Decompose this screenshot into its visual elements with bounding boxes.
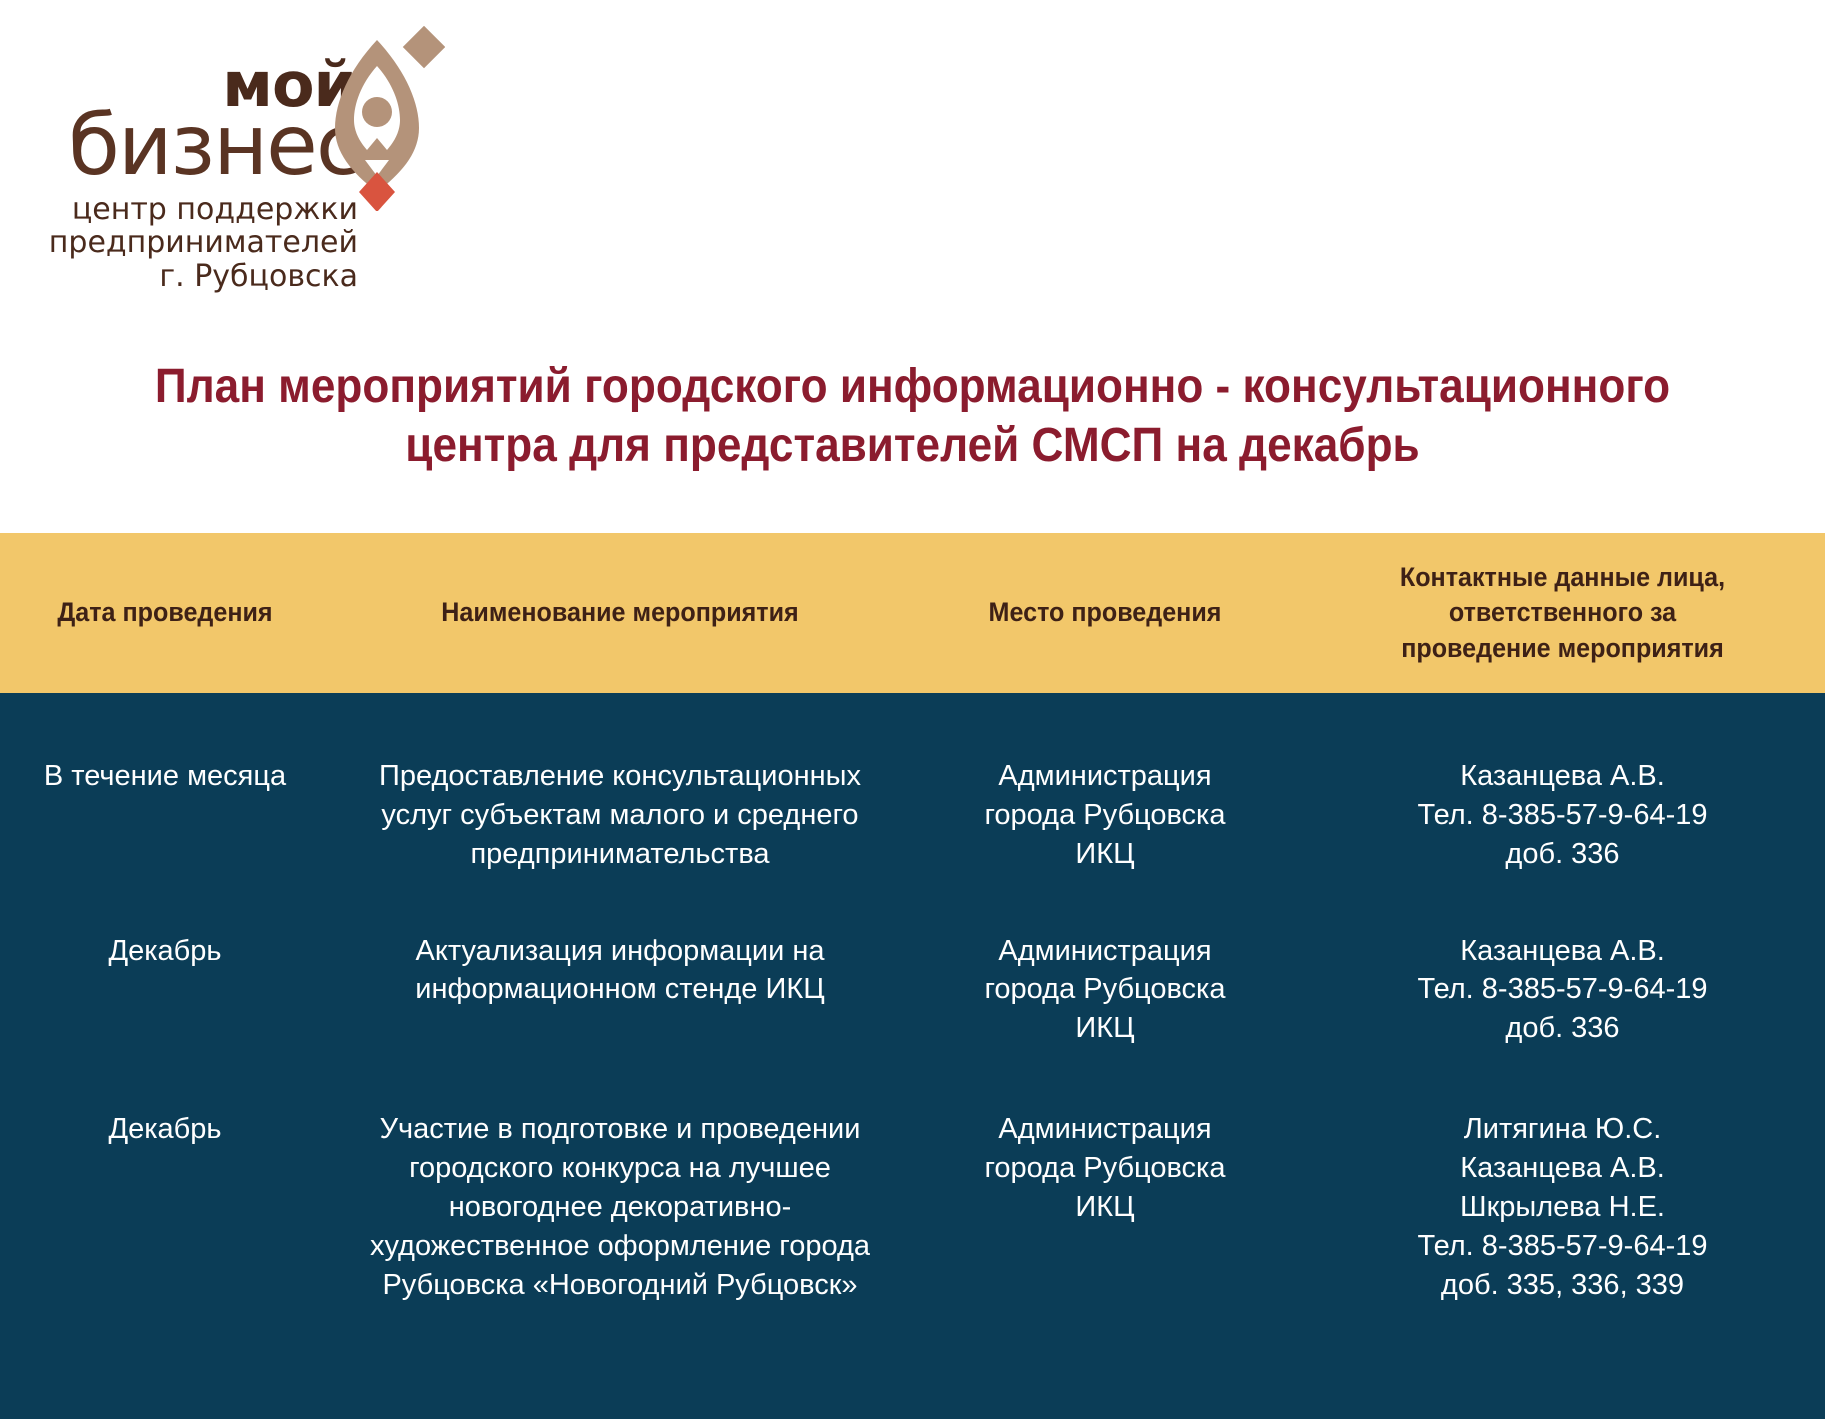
cell-contact-lines: Казанцева А.В. Тел. 8-385-57-9-64-19 доб…	[1300, 932, 1825, 1049]
cell-place-line-3: ИКЦ	[910, 1009, 1300, 1048]
cell-event: Участие в подготовке и проведении городс…	[330, 1110, 910, 1304]
cell-contact-line-1: Казанцева А.В.	[1310, 757, 1815, 796]
cell-place-line-3: ИКЦ	[910, 1188, 1300, 1227]
column-header-event: Наименование мероприятия	[350, 595, 889, 630]
cell-place-line-1: Администрация	[910, 1110, 1300, 1149]
cell-contact-line-1: Литягина Ю.С.	[1310, 1110, 1815, 1149]
cell-contact-line-3: доб. 336	[1310, 1009, 1815, 1048]
cell-contact-line-2: Тел. 8-385-57-9-64-19	[1310, 970, 1815, 1009]
cell-contact-line-4: Тел. 8-385-57-9-64-19	[1310, 1227, 1815, 1266]
column-header-contact: Контактные данные лица, ответственного з…	[1318, 560, 1806, 665]
cell-date: В течение месяца	[0, 757, 330, 796]
cell-place-line-1: Администрация	[910, 757, 1300, 796]
cell-event: Актуализация информации на информационно…	[330, 932, 910, 1010]
page-title-month: декабрь	[1239, 419, 1420, 472]
cell-contact-line-3: доб. 336	[1310, 835, 1815, 874]
column-header-contact-line-1: Контактные данные лица,	[1318, 560, 1806, 595]
column-header-contact-line-3: проведение мероприятия	[1318, 631, 1806, 666]
cell-contact: Казанцева А.В. Тел. 8-385-57-9-64-19 доб…	[1300, 932, 1825, 1049]
logo-subtitle-line-2: предпринимателей	[30, 226, 358, 260]
page-title-line-2-prefix: центра для представителей СМСП на	[405, 419, 1239, 472]
cell-place-line-2: города Рубцовска	[910, 1149, 1300, 1188]
cell-contact-line-2: Казанцева А.В.	[1310, 1149, 1815, 1188]
cell-place: Администрация города Рубцовска ИКЦ	[910, 1110, 1300, 1227]
brand-logo: мой бизнес центр поддержки предпринимате…	[30, 18, 500, 298]
cell-event-text: Актуализация информации на информационно…	[330, 932, 910, 1010]
column-header-place-line-1: Место проведения	[924, 595, 1287, 630]
logo-subtitle-line-3: г. Рубцовска	[30, 260, 358, 294]
cell-contact: Литягина Ю.С. Казанцева А.В. Шкрылева Н.…	[1300, 1110, 1825, 1304]
table-row: Декабрь Актуализация информации на инфор…	[0, 874, 1825, 1049]
logo-subtitle: центр поддержки предпринимателей г. Рубц…	[30, 193, 360, 294]
cell-place: Администрация города Рубцовска ИКЦ	[910, 757, 1300, 874]
cell-date: Декабрь	[0, 932, 330, 971]
cell-contact: Казанцева А.В. Тел. 8-385-57-9-64-19 доб…	[1300, 757, 1825, 874]
cell-date: Декабрь	[0, 1110, 330, 1149]
cell-contact-line-2: Тел. 8-385-57-9-64-19	[1310, 796, 1815, 835]
column-header-contact-line-2: ответственного за	[1318, 595, 1806, 630]
table-row: В течение месяца Предоставление консульт…	[0, 719, 1825, 874]
cell-place-line-1: Администрация	[910, 932, 1300, 971]
column-header-date: Дата проведения	[12, 595, 319, 630]
cell-place-line-3: ИКЦ	[910, 835, 1300, 874]
events-table: Дата проведения Наименование мероприятия…	[0, 533, 1825, 1419]
cell-contact-line-3: Шкрылева Н.Е.	[1310, 1188, 1815, 1227]
rocket-pin-icon	[315, 26, 445, 206]
cell-contact-line-1: Казанцева А.В.	[1310, 932, 1815, 971]
cell-contact-lines: Казанцева А.В. Тел. 8-385-57-9-64-19 доб…	[1300, 757, 1825, 874]
cell-place-line-2: города Рубцовска	[910, 970, 1300, 1009]
table-row: Декабрь Участие в подготовке и проведени…	[0, 1048, 1825, 1304]
cell-place: Администрация города Рубцовска ИКЦ	[910, 932, 1300, 1049]
logo-subtitle-line-1: центр поддержки	[30, 193, 358, 227]
column-header-place: Место проведения	[924, 595, 1287, 630]
logo-wordmark: мой бизнес центр поддержки предпринимате…	[30, 18, 360, 294]
cell-event-text: Предоставление консультационных услуг су…	[330, 757, 910, 874]
page-title: План мероприятий городского информационн…	[73, 358, 1752, 475]
column-header-date-line-1: Дата проведения	[12, 595, 319, 630]
table-body: В течение месяца Предоставление консульт…	[0, 693, 1825, 1419]
cell-event: Предоставление консультационных услуг су…	[330, 757, 910, 874]
cell-place-line-2: города Рубцовска	[910, 796, 1300, 835]
cell-contact-lines: Литягина Ю.С. Казанцева А.В. Шкрылева Н.…	[1300, 1110, 1825, 1304]
page-title-line-1: План мероприятий городского информационн…	[73, 358, 1752, 417]
column-header-event-line-1: Наименование мероприятия	[350, 595, 889, 630]
cell-contact-line-5: доб. 335, 336, 339	[1310, 1266, 1815, 1305]
table-header-row: Дата проведения Наименование мероприятия…	[0, 533, 1825, 693]
logo-word-biznes: бизнес	[30, 109, 360, 183]
cell-event-text: Участие в подготовке и проведении городс…	[330, 1110, 910, 1304]
page-title-line-2: центра для представителей СМСП на декабр…	[73, 417, 1752, 476]
